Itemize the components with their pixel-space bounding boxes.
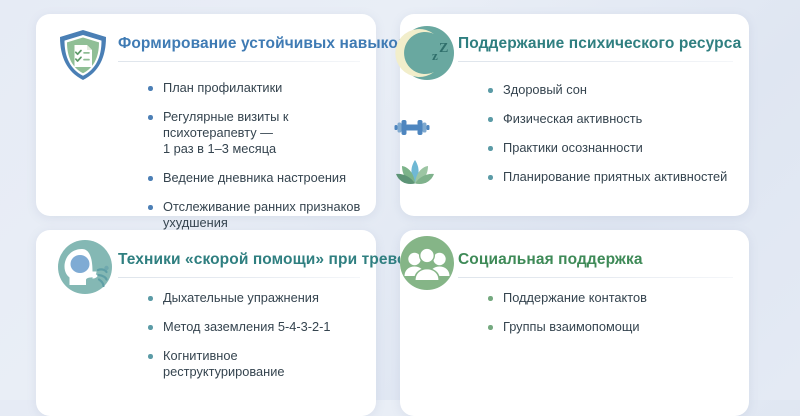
list-item-text-line2: 1 раз в 1–3 месяца <box>163 141 362 157</box>
list-item: Физическая активность <box>488 111 735 127</box>
list-item-text: Физическая активность <box>503 111 642 126</box>
list-item-text: Группы взаимопомощи <box>503 319 640 334</box>
card-title-block: Поддержание психического ресурса <box>458 34 733 62</box>
bullet-list: Здоровый сон Физическая активность Практ… <box>488 82 735 185</box>
list-item-text: Практики осознанности <box>503 140 643 155</box>
list-item: Планирование приятных активностей <box>488 169 735 185</box>
list-item-text: Поддержание контактов <box>503 290 647 305</box>
bullet-list: План профилактики Регулярные визиты к пс… <box>148 80 362 231</box>
card-title: Формирование устойчивых навыков <box>118 34 360 54</box>
lotus-flower-icon <box>394 154 436 192</box>
title-divider <box>118 277 360 278</box>
people-group-icon <box>398 234 456 292</box>
list-item: Дыхательные упражнения <box>148 290 362 306</box>
list-item-text: Метод заземления 5-4-3-2-1 <box>163 319 330 334</box>
list-item: Практики осознанности <box>488 140 735 156</box>
bullet-list: Дыхательные упражнения Метод заземления … <box>148 290 362 380</box>
list-item: Ведение дневника настроения <box>148 170 362 186</box>
moon-sleep-icon: z Z <box>398 24 456 82</box>
list-item-text: Дыхательные упражнения <box>163 290 319 305</box>
list-item: Поддержание контактов <box>488 290 735 306</box>
list-item: Группы взаимопомощи <box>488 319 735 335</box>
svg-text:z: z <box>432 48 438 63</box>
list-item: План профилактики <box>148 80 362 96</box>
card-title: Поддержание психического ресурса <box>458 34 733 54</box>
list-item: Здоровый сон <box>488 82 735 98</box>
card-title-block: Формирование устойчивых навыков <box>118 34 360 62</box>
card-title: Социальная поддержка <box>458 250 733 270</box>
list-item-text: Регулярные визиты к психотерапевту — <box>163 109 289 140</box>
title-divider <box>458 277 733 278</box>
list-item: Отслеживание ранних признаков ухудшения <box>148 199 362 231</box>
list-item-text: План профилактики <box>163 80 282 95</box>
dumbbell-icon <box>392 112 432 144</box>
infographic-canvas: Формирование устойчивых навыков План про… <box>0 0 800 400</box>
list-item-text: Ведение дневника настроения <box>163 170 346 185</box>
list-item-text: Отслеживание ранних признаков ухудшения <box>163 199 360 230</box>
list-item: Когнитивное реструктурирование <box>148 348 362 380</box>
card-title-block: Социальная поддержка <box>458 250 733 278</box>
card-emergency-techniques: Техники «скорой помощи» при тревоге Дыха… <box>36 230 376 416</box>
list-item-text: Здоровый сон <box>503 82 587 97</box>
title-divider <box>458 61 733 62</box>
list-item-text: Когнитивное реструктурирование <box>163 348 284 379</box>
card-title-block: Техники «скорой помощи» при тревоге <box>118 250 360 278</box>
bullet-list: Поддержание контактов Группы взаимопомощ… <box>488 290 735 335</box>
shield-checklist-icon <box>54 26 112 84</box>
head-breathing-icon <box>56 238 114 296</box>
card-title: Техники «скорой помощи» при тревоге <box>118 250 360 270</box>
list-item: Регулярные визиты к психотерапевту — 1 р… <box>148 109 362 157</box>
card-skills: Формирование устойчивых навыков План про… <box>36 14 376 216</box>
title-divider <box>118 61 360 62</box>
list-item-text: Планирование приятных активностей <box>503 169 727 184</box>
svg-text:Z: Z <box>439 41 448 56</box>
card-mental-resource: z Z Поддержание психического ресурса <box>400 14 749 216</box>
card-social-support: Социальная поддержка Поддержание контакт… <box>400 230 749 416</box>
list-item: Метод заземления 5-4-3-2-1 <box>148 319 362 335</box>
